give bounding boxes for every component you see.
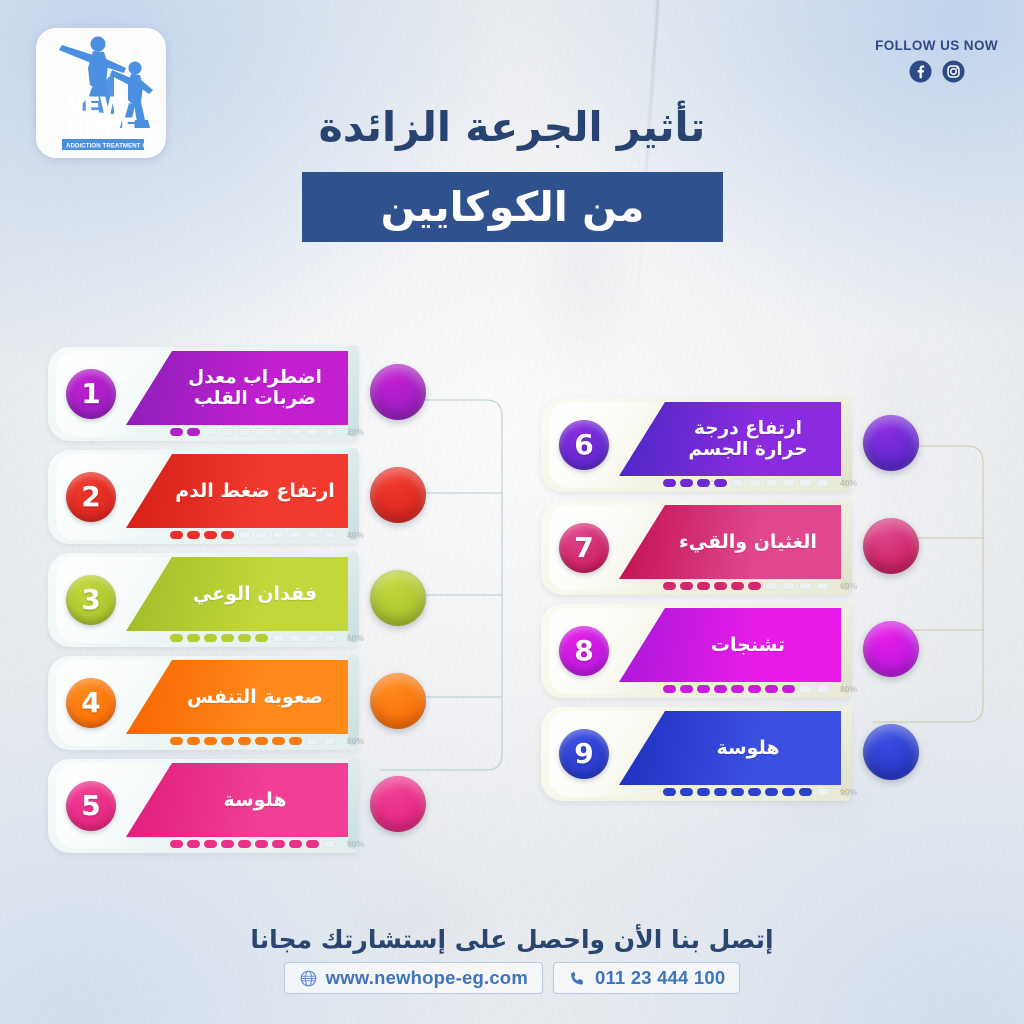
progress-dot-filled	[255, 840, 268, 848]
symptom-label: الغثيان والقيء	[679, 531, 817, 553]
symptom-number: 1	[81, 380, 100, 408]
progress-dot-filled	[255, 737, 268, 745]
progress-dot-filled	[221, 531, 234, 539]
progress-dot-filled	[204, 737, 217, 745]
social-icons	[909, 60, 965, 83]
page-title: تأثير الجرعة الزائدة	[0, 103, 1024, 151]
symptom-number-badge: 4	[66, 678, 116, 728]
symptom-label: هلوسة	[223, 789, 286, 811]
symptom-number: 7	[574, 534, 593, 562]
progress-dot-filled	[731, 582, 744, 590]
progress-dot-filled	[187, 531, 200, 539]
footer-contact-bar: www.newhope-eg.com 011 23 444 100	[0, 962, 1024, 994]
symptom-orb	[370, 570, 426, 626]
symptom-item[interactable]: اضطراب معدل ضربات القلب120%	[48, 345, 468, 445]
progress-dot-filled	[221, 737, 234, 745]
progress-dot-filled	[221, 840, 234, 848]
symptom-number: 4	[81, 689, 100, 717]
progress-dot-filled	[697, 582, 710, 590]
symptom-item[interactable]: ارتفاع درجة حرارة الجسم640%	[541, 396, 961, 496]
progress-dot-empty	[221, 428, 234, 436]
progress-dot-filled	[170, 428, 183, 436]
progress-dot-empty	[289, 428, 302, 436]
progress-dot-filled	[748, 788, 761, 796]
progress-dot-empty	[799, 685, 812, 693]
progress-dot-filled	[170, 737, 183, 745]
progress-dot-empty	[272, 634, 285, 642]
progress-dots: 40%	[663, 478, 857, 488]
progress-dot-empty	[306, 737, 319, 745]
progress-dot-filled	[765, 788, 778, 796]
phone-icon	[568, 969, 587, 988]
symptom-orb	[863, 621, 919, 677]
progress-dot-empty	[323, 840, 336, 848]
progress-dot-filled	[221, 634, 234, 642]
progress-dots: 40%	[170, 530, 364, 540]
progress-dots: 90%	[170, 839, 364, 849]
progress-dots: 20%	[170, 427, 364, 437]
symptom-number: 5	[81, 792, 100, 820]
progress-dot-empty	[782, 479, 795, 487]
bar-end-cap	[348, 551, 359, 643]
symptom-orb	[863, 724, 919, 780]
bar-end-cap	[841, 499, 852, 591]
bar-end-cap	[841, 396, 852, 488]
progress-dot-empty	[782, 582, 795, 590]
progress-dot-filled	[187, 840, 200, 848]
progress-dot-empty	[323, 737, 336, 745]
progress-dot-empty	[255, 531, 268, 539]
symptom-item[interactable]: ارتفاع ضغط الدم240%	[48, 448, 468, 548]
progress-dot-filled	[170, 840, 183, 848]
symptom-item[interactable]: الغثيان والقيء760%	[541, 499, 961, 599]
progress-dot-filled	[187, 634, 200, 642]
progress-dot-empty	[289, 634, 302, 642]
progress-dot-empty	[765, 479, 778, 487]
progress-dot-empty	[238, 531, 251, 539]
symptom-item[interactable]: هلوسة590%	[48, 757, 468, 857]
page-subtitle: من الكوكايين	[381, 187, 645, 228]
bar-end-cap	[841, 705, 852, 797]
follow-us-label: FOLLOW US NOW	[875, 38, 998, 53]
instagram-icon[interactable]	[942, 60, 965, 83]
progress-dot-filled	[731, 685, 744, 693]
progress-dot-filled	[697, 788, 710, 796]
progress-percent: 80%	[347, 736, 364, 746]
globe-icon	[299, 969, 318, 988]
progress-dot-filled	[663, 685, 676, 693]
progress-dot-empty	[816, 582, 829, 590]
symptom-list-left: اضطراب معدل ضربات القلب120%ارتفاع ضغط ال…	[48, 345, 468, 860]
progress-dot-filled	[748, 582, 761, 590]
symptom-label: هلوسة	[716, 737, 779, 759]
progress-dot-empty	[816, 685, 829, 693]
symptom-orb	[863, 415, 919, 471]
website-pill[interactable]: www.newhope-eg.com	[284, 962, 543, 994]
progress-dot-empty	[799, 582, 812, 590]
progress-dot-filled	[697, 685, 710, 693]
progress-dot-filled	[680, 479, 693, 487]
symptom-number-badge: 2	[66, 472, 116, 522]
progress-percent: 60%	[347, 633, 364, 643]
symptom-number-badge: 7	[559, 523, 609, 573]
progress-dot-empty	[765, 582, 778, 590]
progress-percent: 40%	[347, 530, 364, 540]
symptom-orb	[370, 467, 426, 523]
symptom-label: فقدان الوعي	[193, 583, 317, 605]
symptom-number-badge: 8	[559, 626, 609, 676]
progress-dot-filled	[255, 634, 268, 642]
bar-end-cap	[841, 602, 852, 694]
progress-dot-filled	[697, 479, 710, 487]
symptom-label: تشنجات	[711, 634, 785, 656]
bar-end-cap	[348, 757, 359, 849]
progress-percent: 90%	[347, 839, 364, 849]
symptom-number: 6	[574, 431, 593, 459]
progress-dot-empty	[799, 479, 812, 487]
progress-dot-empty	[731, 479, 744, 487]
progress-dot-filled	[238, 737, 251, 745]
symptom-orb	[370, 776, 426, 832]
progress-dots: 60%	[663, 581, 857, 591]
symptom-number: 8	[574, 637, 593, 665]
follow-us-block: FOLLOW US NOW	[875, 38, 998, 83]
progress-dot-filled	[663, 479, 676, 487]
progress-dot-filled	[204, 634, 217, 642]
progress-dot-filled	[714, 479, 727, 487]
progress-dot-empty	[204, 428, 217, 436]
symptom-number-badge: 5	[66, 781, 116, 831]
progress-dot-filled	[187, 737, 200, 745]
symptom-item[interactable]: فقدان الوعي360%	[48, 551, 468, 651]
progress-dot-filled	[289, 737, 302, 745]
progress-dot-filled	[238, 840, 251, 848]
symptom-item[interactable]: هلوسة990%	[541, 705, 961, 805]
progress-dot-filled	[782, 685, 795, 693]
symptom-number-badge: 3	[66, 575, 116, 625]
progress-percent: 20%	[347, 427, 364, 437]
progress-dot-filled	[680, 582, 693, 590]
symptom-item[interactable]: تشنجات880%	[541, 602, 961, 702]
progress-dot-filled	[204, 531, 217, 539]
progress-dot-filled	[272, 737, 285, 745]
progress-dot-filled	[663, 582, 676, 590]
symptom-list-right: ارتفاع درجة حرارة الجسم640%الغثيان والقي…	[541, 396, 961, 808]
symptom-label: اضطراب معدل ضربات القلب	[172, 367, 338, 410]
progress-dot-filled	[748, 685, 761, 693]
progress-dot-empty	[255, 428, 268, 436]
symptom-orb	[370, 364, 426, 420]
progress-dot-filled	[799, 788, 812, 796]
progress-dot-filled	[289, 840, 302, 848]
progress-percent: 90%	[840, 787, 857, 797]
progress-dot-empty	[306, 634, 319, 642]
symptom-label: ارتفاع ضغط الدم	[175, 480, 335, 502]
progress-dot-filled	[680, 685, 693, 693]
title-banner: من الكوكايين	[302, 172, 723, 242]
progress-dot-filled	[170, 634, 183, 642]
progress-dot-empty	[289, 531, 302, 539]
progress-dot-filled	[680, 788, 693, 796]
progress-percent: 60%	[840, 581, 857, 591]
progress-dot-empty	[748, 479, 761, 487]
progress-dot-filled	[170, 531, 183, 539]
progress-dot-empty	[323, 531, 336, 539]
progress-dots: 60%	[170, 633, 364, 643]
progress-dot-empty	[816, 788, 829, 796]
progress-dot-filled	[714, 788, 727, 796]
bar-end-cap	[348, 345, 359, 437]
progress-dot-empty	[272, 531, 285, 539]
bar-end-cap	[348, 448, 359, 540]
progress-dot-filled	[731, 788, 744, 796]
symptom-number: 2	[81, 483, 100, 511]
progress-dot-empty	[306, 531, 319, 539]
progress-dot-filled	[187, 428, 200, 436]
symptom-number-badge: 1	[66, 369, 116, 419]
progress-dot-filled	[714, 685, 727, 693]
progress-dot-filled	[765, 685, 778, 693]
symptom-number-badge: 9	[559, 729, 609, 779]
progress-dot-empty	[306, 428, 319, 436]
progress-percent: 80%	[840, 684, 857, 694]
progress-percent: 40%	[840, 478, 857, 488]
symptom-label: صعوبة التنفس	[187, 686, 323, 708]
symptom-label: ارتفاع درجة حرارة الجسم	[665, 418, 831, 461]
symptom-number-badge: 6	[559, 420, 609, 470]
progress-dot-filled	[714, 582, 727, 590]
progress-dot-filled	[663, 788, 676, 796]
symptom-orb	[863, 518, 919, 574]
progress-dot-empty	[816, 479, 829, 487]
progress-dot-empty	[238, 428, 251, 436]
progress-dot-empty	[323, 428, 336, 436]
website-text: www.newhope-eg.com	[326, 967, 528, 989]
progress-dot-filled	[238, 634, 251, 642]
progress-dot-empty	[323, 634, 336, 642]
progress-dots: 90%	[663, 787, 857, 797]
bar-end-cap	[348, 654, 359, 746]
progress-dots: 80%	[663, 684, 857, 694]
symptom-number: 3	[81, 586, 100, 614]
progress-dot-filled	[306, 840, 319, 848]
symptom-item[interactable]: صعوبة التنفس480%	[48, 654, 468, 754]
footer-call-to-action: إتصل بنا الأن واحصل على إستشارتك مجانا	[0, 925, 1024, 954]
progress-dot-filled	[204, 840, 217, 848]
symptom-orb	[370, 673, 426, 729]
progress-dot-empty	[272, 428, 285, 436]
phone-pill[interactable]: 011 23 444 100	[553, 962, 740, 994]
facebook-icon[interactable]	[909, 60, 932, 83]
progress-dot-filled	[272, 840, 285, 848]
phone-text: 011 23 444 100	[595, 967, 725, 989]
progress-dot-filled	[782, 788, 795, 796]
symptom-number: 9	[574, 740, 593, 768]
progress-dots: 80%	[170, 736, 364, 746]
